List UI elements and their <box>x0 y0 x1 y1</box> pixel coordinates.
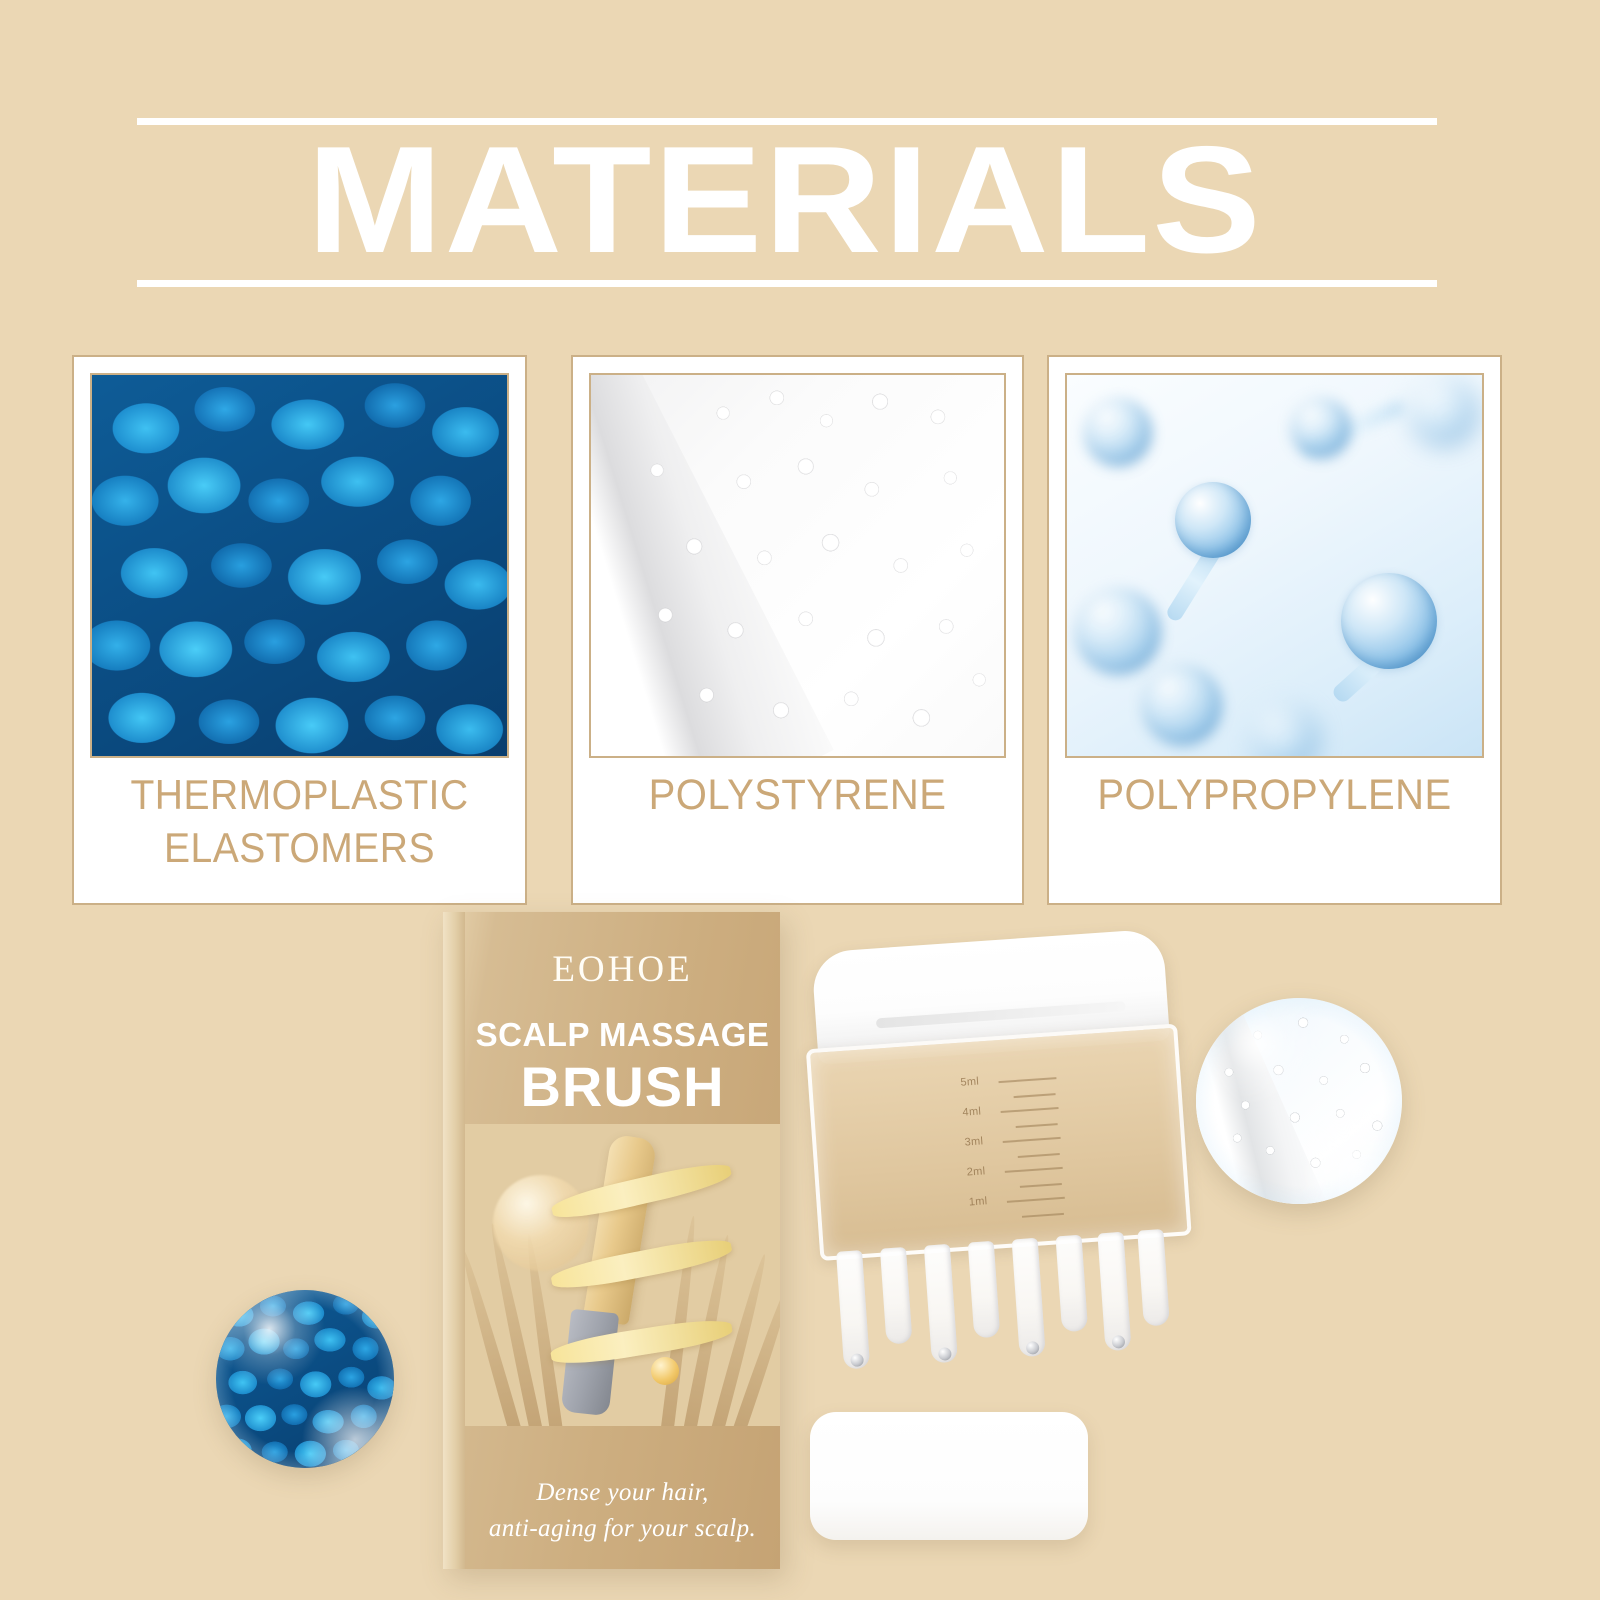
hair-follicle-illustration <box>465 1124 780 1426</box>
scale-label: 4ml <box>962 1105 981 1118</box>
brush-tooth-tip <box>937 1347 951 1361</box>
box-spine <box>443 912 465 1569</box>
scale-label: 1ml <box>968 1195 987 1208</box>
material-card-thermoplastic-elastomers[interactable]: THERMOPLASTIC ELASTOMERS <box>72 355 527 905</box>
material-label-polystyrene: POLYSTYRENE <box>598 769 997 823</box>
blue-pellets-closeup <box>216 1290 394 1468</box>
scale-tick <box>1003 1137 1061 1143</box>
brush-tooth-tip <box>850 1353 864 1367</box>
scale-tick-minor <box>1020 1183 1062 1188</box>
molecule-atom <box>1142 665 1222 745</box>
brush-tooth <box>836 1250 870 1370</box>
scale-label: 2ml <box>966 1165 985 1178</box>
material-card-polypropylene[interactable]: POLYPROPYLENE <box>1047 355 1502 905</box>
blue-pellets-image <box>92 375 507 756</box>
brush-tooth <box>1097 1232 1131 1352</box>
product-subtitle: SCALP MASSAGE <box>465 1016 780 1054</box>
scale-tick-minor <box>1014 1093 1056 1098</box>
molecule-atom <box>1341 573 1437 669</box>
scale-label: 5ml <box>960 1075 979 1088</box>
material-photo-tpe <box>90 373 509 758</box>
material-label-line2: ELASTOMERS <box>99 822 500 875</box>
page-title: MATERIALS <box>307 120 1516 280</box>
bead-cluster <box>1196 998 1402 1204</box>
brush-tooth-tip <box>1025 1341 1039 1355</box>
brush-tooth-tip <box>1111 1335 1125 1349</box>
device-liquid-reservoir: 5ml 4ml 3ml 2ml <box>806 1024 1192 1261</box>
material-label-line1: THERMOPLASTIC <box>99 769 500 822</box>
device-cap-slit <box>876 1001 1126 1028</box>
molecule-atom <box>1407 375 1479 447</box>
molecule-image <box>1067 375 1482 756</box>
tpe-pellets-bubble <box>216 1290 394 1468</box>
product-base-stand[interactable] <box>810 1412 1088 1540</box>
measurement-scale: 5ml 4ml 3ml 2ml <box>960 1070 1096 1228</box>
brush-tooth <box>1012 1238 1046 1358</box>
product-title: BRUSH <box>465 1054 780 1119</box>
molecule-atom <box>1291 398 1351 458</box>
page-header: MATERIALS <box>137 112 1437 292</box>
scale-tick-minor <box>1016 1123 1058 1128</box>
tagline-line1: Dense your hair, <box>465 1475 780 1511</box>
white-beads-image <box>591 375 1004 756</box>
brush-tooth <box>880 1247 913 1345</box>
material-card-polystyrene[interactable]: POLYSTYRENE <box>571 355 1024 905</box>
material-label-polypropylene: POLYPROPYLENE <box>1074 769 1475 823</box>
product-package-box[interactable]: EOHOE SCALP MASSAGE BRUSH Dense your hai… <box>443 912 780 1569</box>
molecule-atom <box>1175 482 1251 558</box>
scale-tick <box>998 1077 1056 1083</box>
brush-tooth <box>924 1244 958 1364</box>
product-tagline: Dense your hair, anti-aging for your sca… <box>465 1475 780 1548</box>
material-photo-polystyrene <box>589 373 1006 758</box>
brush-tooth <box>1137 1229 1170 1327</box>
brush-tooth <box>1055 1235 1088 1333</box>
hair-shaft <box>583 1134 658 1326</box>
brush-tooth <box>968 1241 1001 1339</box>
serum-droplet-small <box>651 1357 679 1385</box>
serum-droplet-large <box>493 1175 589 1271</box>
scale-tick <box>1005 1167 1063 1173</box>
bead-cluster <box>591 375 1004 756</box>
scale-label: 3ml <box>964 1135 983 1148</box>
molecule-atom <box>1084 398 1152 466</box>
scale-tick <box>1007 1197 1065 1203</box>
material-photo-polypropylene <box>1065 373 1484 758</box>
device-brush-teeth <box>832 1228 1192 1384</box>
scale-tick-minor <box>1018 1153 1060 1158</box>
polystyrene-beads-bubble <box>1196 998 1402 1204</box>
molecule-atom <box>1250 703 1320 756</box>
header-rule-bottom <box>137 280 1437 287</box>
molecule-atom <box>1075 588 1161 674</box>
white-beads-closeup <box>1196 998 1402 1204</box>
material-label-tpe: THERMOPLASTIC ELASTOMERS <box>99 769 500 874</box>
brand-name: EOHOE <box>465 948 780 991</box>
scale-tick-minor <box>1022 1213 1064 1218</box>
materials-infographic: MATERIALS THERMOPLASTIC ELASTOMERS POLYS… <box>0 0 1600 1600</box>
scale-tick <box>1001 1107 1059 1113</box>
tagline-line2: anti-aging for your scalp. <box>465 1511 780 1547</box>
scalp-massage-brush-device[interactable]: 5ml 4ml 3ml 2ml <box>793 927 1213 1393</box>
